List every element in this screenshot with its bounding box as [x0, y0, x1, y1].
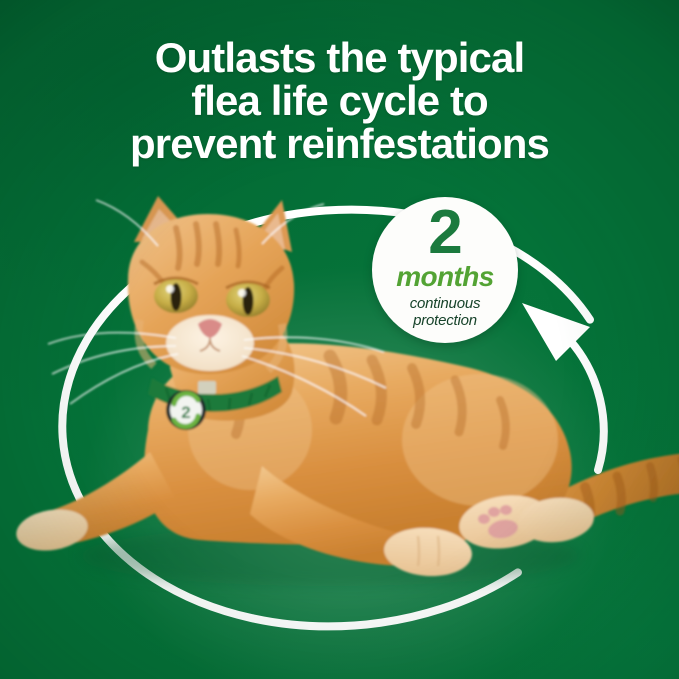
- badge-unit: months: [396, 263, 494, 291]
- badge-subtitle-line-2: protection: [410, 312, 481, 329]
- product-image-canvas: Outlasts the typical flea life cycle to …: [0, 0, 679, 679]
- months-badge: 2 months continuous protection: [372, 197, 518, 343]
- badge-subtitle: continuous protection: [410, 295, 481, 329]
- badge-number: 2: [428, 206, 461, 260]
- badge-subtitle-line-1: continuous: [410, 295, 481, 312]
- headline-line-3: prevent reinfestations: [0, 122, 679, 165]
- headline-line-2: flea life cycle to: [0, 79, 679, 122]
- headline: Outlasts the typical flea life cycle to …: [0, 36, 679, 165]
- headline-line-1: Outlasts the typical: [0, 36, 679, 79]
